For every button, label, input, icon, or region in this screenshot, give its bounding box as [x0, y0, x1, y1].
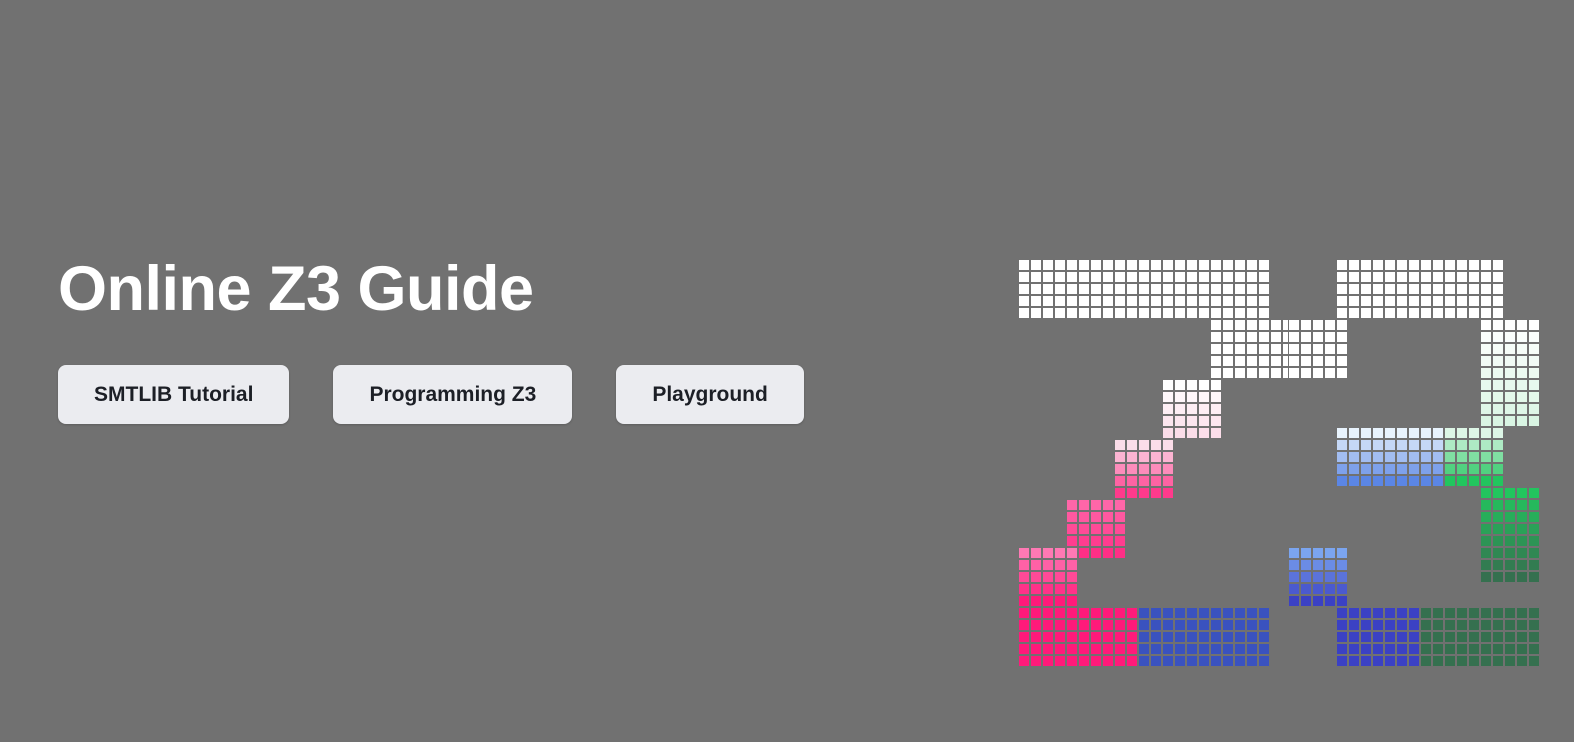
pixel-cell — [1066, 643, 1078, 655]
pixel-cell — [1210, 415, 1222, 427]
pixel-cell — [1336, 475, 1348, 487]
pixel-cell — [1420, 475, 1432, 487]
pixel-cell — [1234, 307, 1246, 319]
seven-step-5 — [1018, 547, 1078, 607]
pixel-cell — [1030, 307, 1042, 319]
pixel-cell — [1360, 655, 1372, 667]
pixel-cell — [1114, 499, 1126, 511]
pixel-cell — [1198, 631, 1210, 643]
pixel-cell — [1456, 655, 1468, 667]
pixel-cell — [1042, 571, 1054, 583]
pixel-cell — [1384, 655, 1396, 667]
pixel-cell — [1222, 631, 1234, 643]
pixel-cell — [1492, 427, 1504, 439]
pixel-cell — [1336, 595, 1348, 607]
pixel-cell — [1504, 367, 1516, 379]
pixel-cell — [1480, 391, 1492, 403]
pixel-cell — [1348, 427, 1360, 439]
pixel-cell — [1210, 379, 1222, 391]
pixel-cell — [1246, 307, 1258, 319]
pixel-cell — [1420, 607, 1432, 619]
pixel-cell — [1432, 259, 1444, 271]
pixel-cell — [1138, 259, 1150, 271]
programming-z3-button[interactable]: Programming Z3 — [333, 365, 572, 424]
pixel-cell — [1480, 487, 1492, 499]
pixel-cell — [1480, 307, 1492, 319]
pixel-cell — [1408, 439, 1420, 451]
pixel-cell — [1150, 307, 1162, 319]
pixel-cell — [1504, 403, 1516, 415]
pixel-cell — [1372, 271, 1384, 283]
pixel-cell — [1198, 307, 1210, 319]
pixel-cell — [1408, 643, 1420, 655]
pixel-cell — [1324, 595, 1336, 607]
pixel-cell — [1492, 499, 1504, 511]
pixel-cell — [1066, 583, 1078, 595]
pixel-cell — [1516, 379, 1528, 391]
pixel-cell — [1480, 271, 1492, 283]
pixel-cell — [1054, 619, 1066, 631]
pixel-cell — [1114, 619, 1126, 631]
pixel-cell — [1162, 643, 1174, 655]
pixel-cell — [1030, 631, 1042, 643]
pixel-cell — [1126, 463, 1138, 475]
pixel-cell — [1432, 463, 1444, 475]
pixel-cell — [1528, 655, 1540, 667]
pixel-cell — [1348, 271, 1360, 283]
pixel-cell — [1516, 559, 1528, 571]
pixel-cell — [1114, 439, 1126, 451]
pixel-cell — [1102, 643, 1114, 655]
pixel-cell — [1336, 571, 1348, 583]
pixel-cell — [1348, 463, 1360, 475]
pixel-cell — [1258, 331, 1270, 343]
pixel-cell — [1138, 451, 1150, 463]
pixel-cell — [1054, 559, 1066, 571]
pixel-cell — [1300, 595, 1312, 607]
pixel-cell — [1186, 403, 1198, 415]
pixel-cell — [1114, 547, 1126, 559]
pixel-cell — [1090, 283, 1102, 295]
pixel-cell — [1468, 295, 1480, 307]
pixel-cell — [1528, 499, 1540, 511]
pixel-cell — [1114, 475, 1126, 487]
three-mid-green — [1444, 427, 1504, 487]
pixel-cell — [1054, 595, 1066, 607]
pixel-cell — [1066, 595, 1078, 607]
pixel-cell — [1444, 271, 1456, 283]
pixel-cell — [1066, 499, 1078, 511]
pixel-cell — [1528, 331, 1540, 343]
pixel-cell — [1336, 451, 1348, 463]
pixel-cell — [1090, 607, 1102, 619]
pixel-cell — [1114, 607, 1126, 619]
pixel-cell — [1018, 559, 1030, 571]
pixel-cell — [1090, 643, 1102, 655]
pixel-cell — [1396, 259, 1408, 271]
pixel-cell — [1528, 559, 1540, 571]
pixel-cell — [1138, 283, 1150, 295]
pixel-cell — [1066, 283, 1078, 295]
pixel-cell — [1480, 571, 1492, 583]
pixel-cell — [1102, 535, 1114, 547]
pixel-cell — [1090, 295, 1102, 307]
pixel-cell — [1492, 343, 1504, 355]
pixel-cell — [1042, 643, 1054, 655]
pixel-cell — [1210, 391, 1222, 403]
pixel-cell — [1246, 319, 1258, 331]
pixel-cell — [1174, 631, 1186, 643]
pixel-cell — [1336, 343, 1348, 355]
pixel-cell — [1300, 559, 1312, 571]
smtlib-tutorial-button[interactable]: SMTLIB Tutorial — [58, 365, 289, 424]
pixel-cell — [1210, 355, 1222, 367]
playground-button[interactable]: Playground — [616, 365, 804, 424]
pixel-cell — [1042, 259, 1054, 271]
pixel-cell — [1300, 367, 1312, 379]
pixel-cell — [1114, 283, 1126, 295]
pixel-cell — [1114, 451, 1126, 463]
pixel-cell — [1528, 619, 1540, 631]
pixel-cell — [1054, 259, 1066, 271]
pixel-cell — [1444, 607, 1456, 619]
pixel-cell — [1162, 307, 1174, 319]
pixel-cell — [1162, 463, 1174, 475]
pixel-cell — [1222, 655, 1234, 667]
pixel-cell — [1030, 283, 1042, 295]
pixel-cell — [1102, 295, 1114, 307]
pixel-cell — [1468, 451, 1480, 463]
seven-base-pink — [1018, 607, 1138, 667]
pixel-cell — [1492, 571, 1504, 583]
pixel-cell — [1222, 319, 1234, 331]
pixel-cell — [1420, 631, 1432, 643]
pixel-cell — [1126, 307, 1138, 319]
pixel-cell — [1198, 259, 1210, 271]
pixel-cell — [1312, 343, 1324, 355]
pixel-cell — [1138, 475, 1150, 487]
pixel-cell — [1300, 331, 1312, 343]
pixel-cell — [1102, 619, 1114, 631]
pixel-cell — [1162, 475, 1174, 487]
pixel-cell — [1246, 367, 1258, 379]
pixel-cell — [1162, 451, 1174, 463]
pixel-cell — [1222, 643, 1234, 655]
pixel-cell — [1396, 619, 1408, 631]
pixel-cell — [1360, 451, 1372, 463]
pixel-cell — [1300, 343, 1312, 355]
pixel-cell — [1174, 607, 1186, 619]
pixel-cell — [1336, 271, 1348, 283]
pixel-cell — [1456, 283, 1468, 295]
pixel-cell — [1360, 427, 1372, 439]
pixel-cell — [1186, 271, 1198, 283]
pixel-cell — [1030, 643, 1042, 655]
pixel-cell — [1492, 439, 1504, 451]
pixel-cell — [1126, 631, 1138, 643]
pixel-cell — [1516, 631, 1528, 643]
pixel-cell — [1210, 307, 1222, 319]
pixel-cell — [1360, 475, 1372, 487]
pixel-cell — [1174, 427, 1186, 439]
pixel-cell — [1270, 343, 1282, 355]
pixel-cell — [1336, 631, 1348, 643]
pixel-cell — [1042, 595, 1054, 607]
pixel-cell — [1210, 259, 1222, 271]
pixel-cell — [1162, 271, 1174, 283]
pixel-cell — [1492, 283, 1504, 295]
pixel-cell — [1198, 403, 1210, 415]
pixel-cell — [1348, 259, 1360, 271]
pixel-cell — [1288, 367, 1300, 379]
pixel-cell — [1150, 655, 1162, 667]
pixel-cell — [1066, 307, 1078, 319]
pixel-cell — [1456, 475, 1468, 487]
seven-step-3 — [1114, 439, 1174, 499]
pixel-cell — [1288, 547, 1300, 559]
pixel-cell — [1408, 655, 1420, 667]
pixel-cell — [1258, 271, 1270, 283]
pixel-cell — [1384, 427, 1396, 439]
pixel-cell — [1066, 259, 1078, 271]
seven-top-bar — [1018, 259, 1270, 319]
pixel-cell — [1138, 631, 1150, 643]
pixel-cell — [1492, 463, 1504, 475]
pixel-cell — [1126, 295, 1138, 307]
pixel-cell — [1504, 523, 1516, 535]
pixel-cell — [1360, 259, 1372, 271]
pixel-cell — [1408, 283, 1420, 295]
pixel-cell — [1432, 307, 1444, 319]
pixel-cell — [1432, 475, 1444, 487]
pixel-cell — [1126, 487, 1138, 499]
pixel-cell — [1420, 439, 1432, 451]
pixel-cell — [1186, 619, 1198, 631]
pixel-cell — [1042, 607, 1054, 619]
pixel-cell — [1480, 559, 1492, 571]
pixel-cell — [1492, 355, 1504, 367]
pixel-cell — [1258, 631, 1270, 643]
pixel-cell — [1090, 619, 1102, 631]
pixel-cell — [1528, 355, 1540, 367]
pixel-cell — [1396, 451, 1408, 463]
pixel-cell — [1114, 511, 1126, 523]
pixel-cell — [1480, 295, 1492, 307]
pixel-cell — [1210, 643, 1222, 655]
pixel-cell — [1198, 271, 1210, 283]
pixel-cell — [1018, 307, 1030, 319]
pixel-cell — [1234, 355, 1246, 367]
pixel-cell — [1042, 547, 1054, 559]
pixel-cell — [1528, 643, 1540, 655]
pixel-cell — [1480, 655, 1492, 667]
pixel-cell — [1324, 343, 1336, 355]
pixel-cell — [1360, 463, 1372, 475]
pixel-cell — [1162, 391, 1174, 403]
pixel-cell — [1432, 271, 1444, 283]
pixel-cell — [1054, 655, 1066, 667]
pixel-cell — [1210, 367, 1222, 379]
pixel-cell — [1234, 319, 1246, 331]
pixel-cell — [1396, 607, 1408, 619]
pixel-cell — [1468, 259, 1480, 271]
pixel-cell — [1396, 307, 1408, 319]
pixel-cell — [1372, 307, 1384, 319]
pixel-cell — [1234, 283, 1246, 295]
pixel-cell — [1324, 583, 1336, 595]
pixel-cell — [1138, 463, 1150, 475]
pixel-cell — [1312, 547, 1324, 559]
pixel-cell — [1516, 367, 1528, 379]
pixel-cell — [1042, 559, 1054, 571]
pixel-cell — [1138, 607, 1150, 619]
pixel-cell — [1090, 523, 1102, 535]
pixel-cell — [1234, 631, 1246, 643]
pixel-cell — [1126, 271, 1138, 283]
pixel-cell — [1420, 427, 1432, 439]
pixel-cell — [1066, 271, 1078, 283]
pixel-cell — [1480, 427, 1492, 439]
pixel-cell — [1018, 295, 1030, 307]
pixel-cell — [1444, 463, 1456, 475]
pixel-cell — [1114, 535, 1126, 547]
pixel-cell — [1186, 415, 1198, 427]
pixel-cell — [1198, 391, 1210, 403]
pixel-cell — [1480, 319, 1492, 331]
pixel-cell — [1162, 283, 1174, 295]
pixel-cell — [1234, 655, 1246, 667]
pixel-cell — [1066, 607, 1078, 619]
pixel-cell — [1336, 559, 1348, 571]
pixel-cell — [1492, 295, 1504, 307]
pixel-cell — [1210, 427, 1222, 439]
pixel-cell — [1396, 655, 1408, 667]
pixel-cell — [1516, 415, 1528, 427]
pixel-cell — [1270, 331, 1282, 343]
pixel-cell — [1258, 307, 1270, 319]
pixel-cell — [1078, 295, 1090, 307]
pixel-cell — [1384, 439, 1396, 451]
pixel-cell — [1102, 607, 1114, 619]
pixel-cell — [1480, 439, 1492, 451]
pixel-cell — [1078, 535, 1090, 547]
pixel-cell — [1348, 307, 1360, 319]
pixel-cell — [1372, 439, 1384, 451]
pixel-cell — [1336, 283, 1348, 295]
pixel-cell — [1138, 655, 1150, 667]
pixel-cell — [1312, 559, 1324, 571]
pixel-cell — [1468, 643, 1480, 655]
pixel-cell — [1420, 655, 1432, 667]
pixel-cell — [1066, 571, 1078, 583]
pixel-cell — [1288, 343, 1300, 355]
pixel-cell — [1492, 631, 1504, 643]
pixel-cell — [1456, 463, 1468, 475]
pixel-cell — [1102, 271, 1114, 283]
pixel-cell — [1372, 655, 1384, 667]
pixel-cell — [1030, 607, 1042, 619]
pixel-cell — [1162, 631, 1174, 643]
pixel-cell — [1444, 475, 1456, 487]
pixel-cell — [1516, 511, 1528, 523]
pixel-cell — [1420, 451, 1432, 463]
pixel-cell — [1504, 343, 1516, 355]
pixel-cell — [1150, 619, 1162, 631]
pixel-cell — [1054, 583, 1066, 595]
pixel-cell — [1114, 259, 1126, 271]
pixel-cell — [1492, 307, 1504, 319]
pixel-cell — [1480, 523, 1492, 535]
three-base-green — [1420, 607, 1540, 667]
pixel-cell — [1174, 283, 1186, 295]
pixel-cell — [1480, 415, 1492, 427]
pixel-cell — [1444, 307, 1456, 319]
pixel-cell — [1018, 595, 1030, 607]
pixel-cell — [1480, 343, 1492, 355]
pixel-cell — [1444, 655, 1456, 667]
pixel-cell — [1186, 295, 1198, 307]
pixel-cell — [1018, 283, 1030, 295]
pixel-cell — [1492, 367, 1504, 379]
pixel-cell — [1384, 295, 1396, 307]
pixel-cell — [1210, 331, 1222, 343]
pixel-cell — [1270, 355, 1282, 367]
pixel-cell — [1528, 607, 1540, 619]
pixel-cell — [1336, 319, 1348, 331]
hero-section: Online Z3 Guide SMTLIB Tutorial Programm… — [0, 0, 1574, 742]
pixel-cell — [1210, 319, 1222, 331]
pixel-cell — [1504, 379, 1516, 391]
pixel-cell — [1042, 583, 1054, 595]
pixel-cell — [1300, 571, 1312, 583]
pixel-cell — [1258, 655, 1270, 667]
pixel-cell — [1042, 295, 1054, 307]
pixel-cell — [1030, 619, 1042, 631]
pixel-cell — [1222, 295, 1234, 307]
pixel-cell — [1138, 439, 1150, 451]
pixel-cell — [1150, 259, 1162, 271]
pixel-cell — [1210, 631, 1222, 643]
pixel-cell — [1186, 283, 1198, 295]
pixel-cell — [1444, 439, 1456, 451]
pixel-cell — [1336, 331, 1348, 343]
pixel-cell — [1348, 619, 1360, 631]
pixel-cell — [1456, 271, 1468, 283]
pixel-cell — [1372, 451, 1384, 463]
pixel-cell — [1090, 631, 1102, 643]
pixel-cell — [1288, 595, 1300, 607]
pixel-cell — [1504, 607, 1516, 619]
pixel-cell — [1468, 475, 1480, 487]
pixel-cell — [1396, 439, 1408, 451]
pixel-cell — [1420, 307, 1432, 319]
pixel-cell — [1270, 319, 1282, 331]
pixel-cell — [1480, 367, 1492, 379]
pixel-cell — [1348, 439, 1360, 451]
pixel-cell — [1480, 475, 1492, 487]
pixel-cell — [1432, 451, 1444, 463]
pixel-cell — [1396, 643, 1408, 655]
pixel-cell — [1504, 499, 1516, 511]
pixel-cell — [1102, 307, 1114, 319]
pixel-cell — [1348, 475, 1360, 487]
pixel-cell — [1396, 475, 1408, 487]
pixel-cell — [1162, 439, 1174, 451]
pixel-cell — [1150, 643, 1162, 655]
pixel-cell — [1492, 511, 1504, 523]
pixel-cell — [1480, 535, 1492, 547]
pixel-cell — [1516, 355, 1528, 367]
